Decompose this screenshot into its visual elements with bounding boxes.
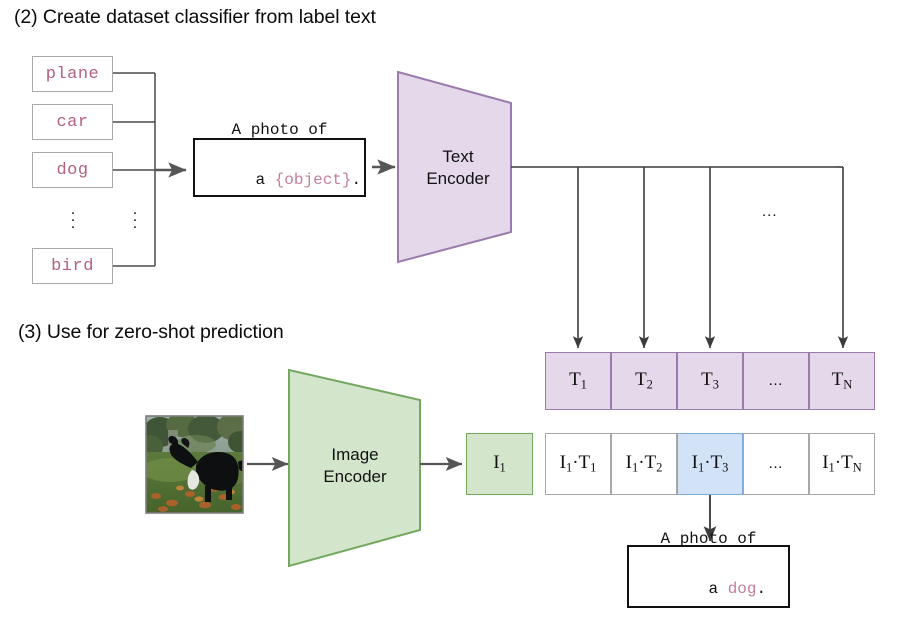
similarity-cell-3-selected[interactable]: I1·T3	[677, 433, 743, 495]
text-embedding-cell-3[interactable]: T3	[677, 352, 743, 410]
fanout-ellipsis: ...	[762, 203, 778, 220]
similarity-cell-2-text: I1·T2	[626, 452, 663, 476]
prediction-result-line2-suffix: .	[757, 580, 767, 598]
label-box-car[interactable]: car	[32, 104, 113, 140]
label-box-dog[interactable]: dog	[32, 152, 113, 188]
similarity-cell-n[interactable]: I1·TN	[809, 433, 875, 495]
prompt-template-line2-prefix: a	[255, 171, 274, 189]
prompt-template-line1: A photo of	[231, 118, 327, 143]
text-embedding-ellipsis-text: ...	[769, 373, 783, 390]
dog-photo-graphic	[137, 413, 252, 513]
text-embedding-cell-1[interactable]: T1	[545, 352, 611, 410]
prompt-template-line2: a {object}.	[198, 143, 361, 217]
image-embedding-cell[interactable]: I1	[466, 433, 533, 495]
label-box-bird[interactable]: bird	[32, 248, 113, 284]
image-encoder-label: Image Encoder	[302, 444, 408, 488]
prediction-result-line2-prefix: a	[708, 580, 727, 598]
photo-frame	[146, 416, 243, 513]
text-encoder-fanout	[511, 167, 843, 348]
prompt-template-line2-suffix: .	[352, 171, 362, 189]
page-heading-step-3: (3) Use for zero-shot prediction	[18, 321, 284, 344]
bracket-column-ellipsis: ...	[129, 206, 141, 227]
text-embedding-cell-2-text: T2	[635, 369, 653, 393]
similarity-cell-n-text: I1·TN	[822, 452, 862, 476]
similarity-cell-1-text: I1·T1	[560, 452, 597, 476]
similarity-cell-ellipsis[interactable]: ...	[743, 433, 809, 495]
vector-layer	[0, 0, 906, 624]
similarity-cell-1[interactable]: I1·T1	[545, 433, 611, 495]
prediction-result-line1: A photo of	[660, 527, 756, 552]
prediction-result-slot: dog	[728, 580, 757, 598]
text-embedding-cell-n-text: TN	[832, 369, 853, 393]
image-embedding-text: I1	[493, 452, 506, 476]
page-heading-step-2: (2) Create dataset classifier from label…	[14, 6, 376, 29]
prediction-result-box[interactable]: A photo of a dog.	[627, 545, 790, 608]
label-column-ellipsis: ...	[67, 206, 79, 227]
text-embedding-cell-1-text: T1	[569, 369, 587, 393]
similarity-ellipsis-text: ...	[769, 456, 783, 473]
text-embedding-cell-ellipsis[interactable]: ...	[743, 352, 809, 410]
diagram-canvas: (2) Create dataset classifier from label…	[0, 0, 906, 624]
prompt-template-box[interactable]: A photo of a {object}.	[193, 138, 366, 197]
prediction-result-line2: a dog.	[651, 552, 766, 626]
similarity-cell-2[interactable]: I1·T2	[611, 433, 677, 495]
text-embedding-cell-2[interactable]: T2	[611, 352, 677, 410]
similarity-cell-3-text: I1·T3	[692, 452, 729, 476]
text-encoder-label: Text Encoder	[418, 146, 498, 190]
label-bracket-lines	[112, 73, 155, 266]
label-box-plane[interactable]: plane	[32, 56, 113, 92]
text-embedding-cell-3-text: T3	[701, 369, 719, 393]
prompt-template-slot: {object}	[275, 171, 352, 189]
text-embedding-cell-n[interactable]: TN	[809, 352, 875, 410]
